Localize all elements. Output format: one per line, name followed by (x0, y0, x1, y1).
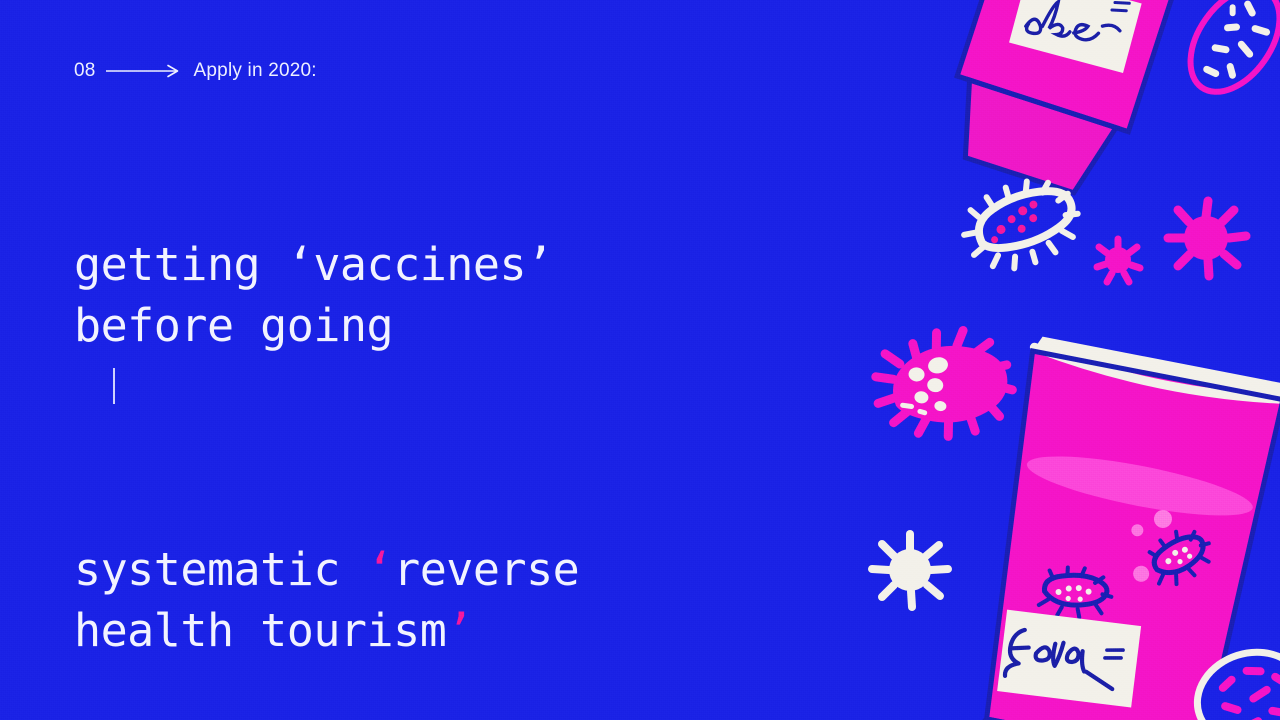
long-arrow-right-icon (106, 64, 184, 78)
slide-eyebrow: 08 Apply in 2020: (74, 60, 317, 82)
slide-text-column: 08 Apply in 2020: getting ‘vaccines’ bef… (0, 0, 760, 720)
headline-text: getting ‘vaccines’ before going (74, 238, 553, 352)
germs-and-vials-illustration (860, 0, 1280, 720)
headline-text: systematic (74, 543, 367, 596)
headline-paragraph-1: getting ‘vaccines’ before going (74, 234, 754, 356)
slide-number: 08 (74, 60, 96, 82)
text-cursor-caret (113, 368, 115, 404)
headline-accent-quote: ’ (446, 604, 473, 657)
headline-accent-quote: ‘ (367, 543, 394, 596)
virus-white-spiky-icon (872, 534, 948, 607)
bacterium-pink-amoeba-icon (869, 319, 1020, 445)
slide-headline: getting ‘vaccines’ before going systemat… (74, 112, 754, 720)
petri-dish-top-right-icon (1172, 0, 1280, 108)
vial-top-icon (934, 0, 1179, 203)
slide-canvas: 08 Apply in 2020: getting ‘vaccines’ bef… (0, 0, 1280, 720)
virus-pink-large-icon (1168, 201, 1246, 276)
slide-eyebrow-label: Apply in 2020: (194, 60, 317, 82)
headline-paragraph-2: systematic ‘reverse health tourism’ (74, 539, 754, 661)
virus-pink-small-icon (1097, 239, 1140, 282)
